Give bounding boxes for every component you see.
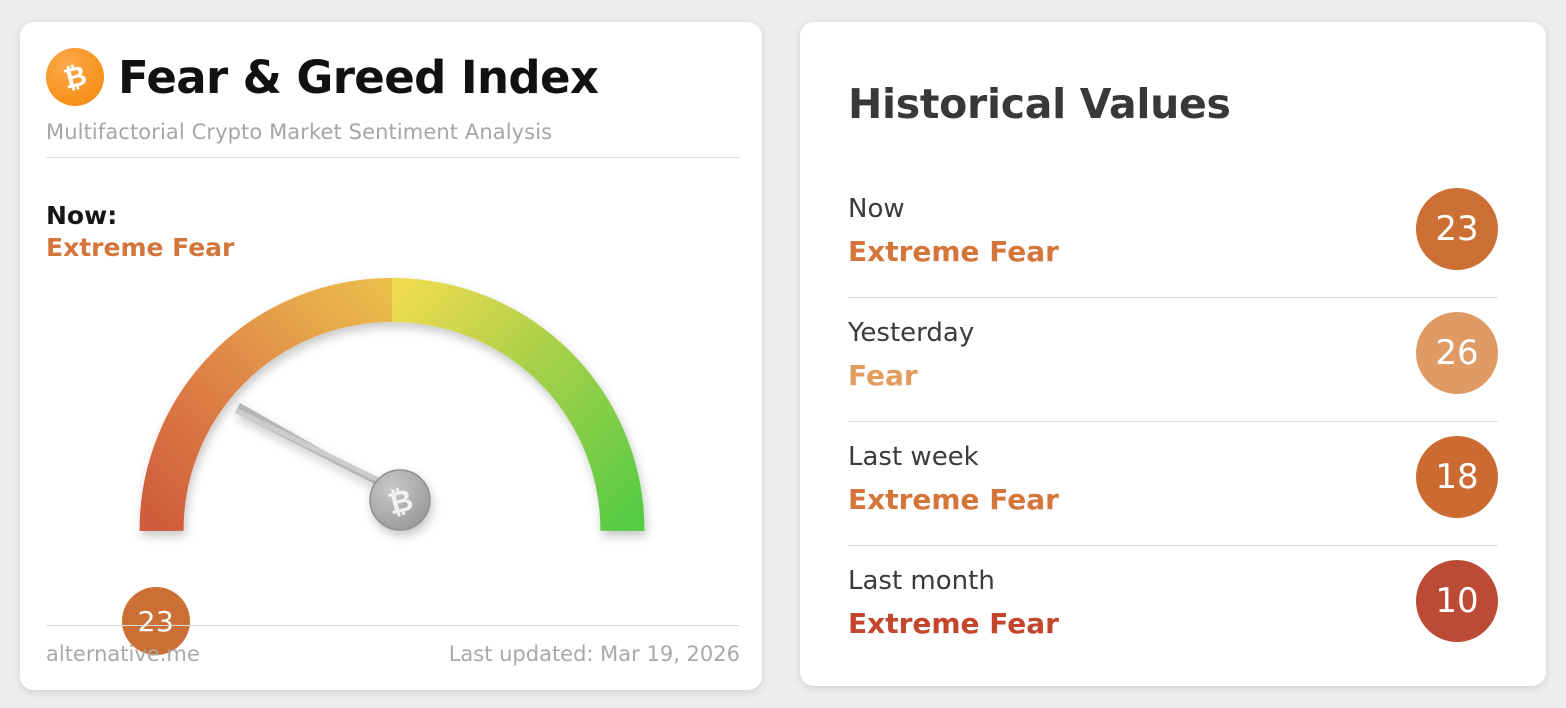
page-title: Fear & Greed Index	[118, 55, 598, 100]
fear-greed-gauge-card: ₿ Fear & Greed Index Multifactorial Cryp…	[20, 22, 762, 690]
current-value-block: Now: Extreme Fear	[46, 200, 234, 265]
footer-divider	[46, 625, 740, 626]
title-row: ₿ Fear & Greed Index	[46, 48, 740, 106]
source-link[interactable]: alternative.me	[46, 642, 200, 666]
now-label: Now:	[46, 200, 234, 231]
list-item[interactable]: Yesterday Fear 26	[848, 298, 1498, 422]
list-item-classification: Extreme Fear	[848, 482, 1059, 517]
list-item-period: Yesterday	[848, 316, 974, 351]
list-item[interactable]: Last month Extreme Fear 10	[848, 546, 1498, 670]
page-subtitle: Multifactorial Crypto Market Sentiment A…	[46, 120, 740, 144]
list-item[interactable]: Last week Extreme Fear 18	[848, 422, 1498, 546]
list-item-classification: Fear	[848, 358, 974, 393]
list-item[interactable]: Now Extreme Fear 23	[848, 174, 1498, 298]
historical-values-title: Historical Values	[848, 80, 1231, 128]
header-divider	[46, 157, 740, 158]
gauge-card-header: ₿ Fear & Greed Index Multifactorial Cryp…	[46, 48, 740, 158]
gauge-needle-hub: ₿	[370, 470, 430, 530]
gauge-needle	[235, 403, 398, 496]
bitcoin-icon: ₿	[46, 48, 104, 106]
last-updated-text: Last updated: Mar 19, 2026	[449, 642, 740, 666]
gauge-arc-svg: ₿	[112, 260, 672, 610]
page-root: ₿ Fear & Greed Index Multifactorial Cryp…	[0, 0, 1566, 708]
historical-values-card: Historical Values Now Extreme Fear 23 Ye…	[800, 22, 1546, 686]
list-item-text: Yesterday Fear	[848, 298, 974, 393]
gauge-chart: ₿ 23	[20, 260, 762, 620]
status-badge: 26	[1416, 312, 1498, 394]
svg-text:₿: ₿	[60, 60, 90, 94]
list-item-period: Now	[848, 192, 1059, 227]
list-item-classification: Extreme Fear	[848, 606, 1059, 641]
historical-values-list: Now Extreme Fear 23 Yesterday Fear 26 La…	[848, 174, 1498, 670]
list-item-text: Last week Extreme Fear	[848, 422, 1059, 517]
list-item-period: Last month	[848, 564, 1059, 599]
list-item-classification: Extreme Fear	[848, 234, 1059, 269]
status-badge: 18	[1416, 436, 1498, 518]
gauge-card-footer: alternative.me Last updated: Mar 19, 202…	[46, 625, 740, 666]
status-badge: 10	[1416, 560, 1498, 642]
footer-row: alternative.me Last updated: Mar 19, 202…	[46, 642, 740, 666]
status-badge: 23	[1416, 188, 1498, 270]
list-item-text: Now Extreme Fear	[848, 174, 1059, 269]
list-item-period: Last week	[848, 440, 1059, 475]
list-item-text: Last month Extreme Fear	[848, 546, 1059, 641]
